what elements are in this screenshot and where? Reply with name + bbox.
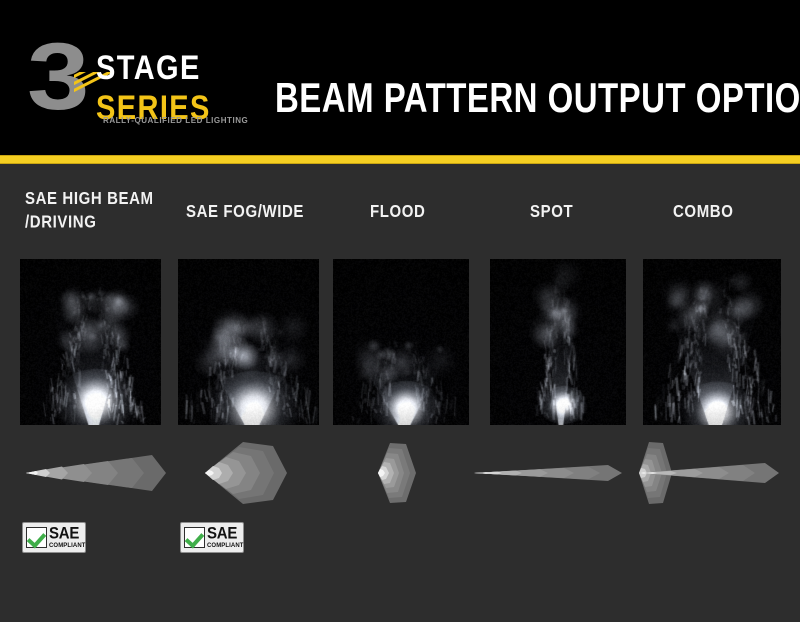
logo-stage-text: STAGE <box>96 52 211 86</box>
beam-diagram <box>368 440 438 506</box>
sae-compliant-badge: SAE COMPLIANT <box>22 522 86 553</box>
column-label: SPOT <box>530 201 670 224</box>
column-label: COMBO <box>673 201 800 224</box>
badge-title: SAE <box>207 526 244 542</box>
sae-compliant-badge: SAE COMPLIANT <box>180 522 244 553</box>
beam-diagram-svg <box>625 440 790 506</box>
beam-diagram <box>625 440 790 506</box>
accent-divider <box>0 155 800 164</box>
column-label: SAE FOG/WIDE <box>186 201 336 224</box>
beam-photo <box>333 259 469 425</box>
badge-title: SAE <box>49 526 86 542</box>
beam-diagram <box>470 440 630 506</box>
beam-photo <box>20 259 161 425</box>
beam-diagram-svg <box>20 440 170 506</box>
beam-photo <box>643 259 781 425</box>
brand-logo: 3 STAGE SERIES RALLY-QUALIFIED LED LIGHT… <box>27 28 242 132</box>
beam-pattern-infographic: 3 STAGE SERIES RALLY-QUALIFIED LED LIGHT… <box>0 0 800 622</box>
page-title: BEAM PATTERN OUTPUT OPTIONS <box>275 74 800 123</box>
header-bar: 3 STAGE SERIES RALLY-QUALIFIED LED LIGHT… <box>0 0 800 157</box>
beam-photo <box>178 259 319 425</box>
check-icon <box>184 527 205 548</box>
beam-diagram <box>20 440 170 506</box>
beam-diagram-svg <box>195 440 305 506</box>
pattern-board: SAE HIGH BEAM /DRIVING <box>0 164 800 622</box>
beam-diagram-svg <box>470 440 630 506</box>
logo-wordmark: STAGE SERIES <box>96 52 211 121</box>
check-icon <box>26 527 47 548</box>
beam-photo <box>490 259 626 425</box>
beam-diagram <box>195 440 305 506</box>
logo-tagline: RALLY-QUALIFIED LED LIGHTING <box>103 116 248 125</box>
beam-diagram-svg <box>368 440 438 506</box>
column-label: FLOOD <box>370 201 510 224</box>
column-label: SAE HIGH BEAM /DRIVING <box>25 188 175 234</box>
